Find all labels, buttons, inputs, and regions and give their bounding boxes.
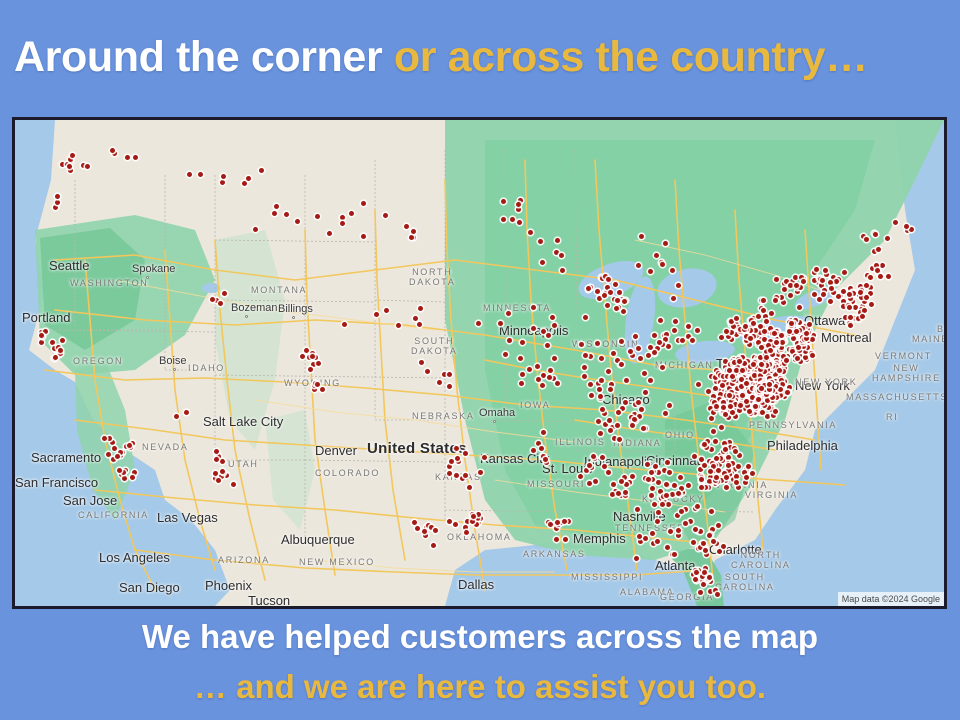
map-customer-dot [541, 373, 546, 378]
map-customer-dot [284, 212, 289, 217]
map-customer-dot [730, 374, 735, 379]
map-customer-dot [873, 232, 878, 237]
map-customer-dot [864, 237, 869, 242]
slide-title: Around the corner or across the country… [0, 26, 960, 88]
map-customer-dot [259, 168, 264, 173]
map-customer-dot [579, 342, 584, 347]
map-customer-dot [716, 523, 721, 528]
map-customer-dot [619, 362, 624, 367]
map-customer-dot [795, 356, 800, 361]
map-container[interactable]: United StatesSeattlePortlandSacramentoSa… [12, 117, 947, 609]
map-customer-dot [676, 283, 681, 288]
map-customer-dot [694, 570, 699, 575]
map-customer-dot [214, 457, 219, 462]
map-basemap [15, 120, 944, 606]
map-customer-dot [717, 549, 722, 554]
title-text-accent: or across the country… [394, 33, 868, 81]
map-customer-dot [774, 277, 779, 282]
map-customer-dot [664, 332, 669, 337]
map-customer-dot [218, 301, 223, 306]
map-customer-dot [315, 214, 320, 219]
map-customer-dot [454, 473, 459, 478]
map-customer-dot [683, 521, 688, 526]
map-customer-dot [559, 253, 564, 258]
map-customer-dot [546, 333, 551, 338]
map-customer-dot [733, 402, 738, 407]
map-customer-dot [766, 343, 771, 348]
map-customer-dot [465, 519, 470, 524]
map-city-tick-icon [146, 276, 149, 279]
map-customer-dot [714, 475, 719, 480]
map-customer-dot [762, 329, 767, 334]
map-customer-dot [374, 312, 379, 317]
map-customer-dot [847, 292, 852, 297]
map-customer-dot [796, 345, 801, 350]
map-customer-dot [817, 297, 822, 302]
map-customer-dot [482, 455, 487, 460]
map-customer-dot [58, 348, 63, 353]
map-customer-dot [699, 485, 704, 490]
map-city-tick-icon [292, 316, 295, 319]
map-customer-dot [810, 337, 815, 342]
map-customer-dot [663, 411, 668, 416]
map-customer-dot [582, 374, 587, 379]
map-customer-dot [246, 176, 251, 181]
map-customer-dot [630, 474, 635, 479]
map-customer-dot [874, 263, 879, 268]
map-customer-dot [520, 372, 525, 377]
map-customer-dot [53, 355, 58, 360]
map-customer-dot [904, 224, 909, 229]
map-customer-dot [841, 299, 846, 304]
map-customer-dot [637, 534, 642, 539]
map-customer-dot [272, 211, 277, 216]
map-customer-dot [531, 305, 536, 310]
map-customer-dot [676, 491, 681, 496]
map-customer-dot [605, 285, 610, 290]
map-customer-dot [587, 481, 592, 486]
map-customer-dot [699, 477, 704, 482]
map-customer-dot [409, 235, 414, 240]
map-customer-dot [864, 295, 869, 300]
map-customer-dot [726, 334, 731, 339]
map-customer-dot [751, 321, 756, 326]
map-customer-dot [885, 236, 890, 241]
map-customer-dot [727, 393, 732, 398]
map-customer-dot [767, 382, 772, 387]
map-city-tick-icon [173, 368, 176, 371]
map-customer-dot [619, 479, 624, 484]
map-customer-dot [765, 398, 770, 403]
map-customer-dot [463, 473, 468, 478]
caption-line-primary: We have helped customers across the map [0, 612, 960, 662]
map-customer-dot [738, 403, 743, 408]
map-customer-dot [693, 577, 698, 582]
map-customer-dot [726, 455, 731, 460]
map-customer-dot [727, 368, 732, 373]
map-customer-dot [753, 328, 758, 333]
map-customer-dot [701, 582, 706, 587]
map-customer-dot [660, 502, 665, 507]
map-customer-dot [560, 268, 565, 273]
map-customer-dot [106, 452, 111, 457]
map-customer-dot [721, 405, 726, 410]
map-canvas[interactable]: United StatesSeattlePortlandSacramentoSa… [15, 120, 944, 606]
map-customer-dot [650, 486, 655, 491]
map-customer-dot [758, 324, 763, 329]
map-customer-dot [361, 234, 366, 239]
map-customer-dot [634, 556, 639, 561]
map-customer-dot [773, 372, 778, 377]
map-customer-dot [676, 528, 681, 533]
map-city-tick-icon [493, 420, 496, 423]
map-customer-dot [598, 431, 603, 436]
map-customer-dot [665, 545, 670, 550]
map-customer-dot [384, 308, 389, 313]
map-customer-dot [555, 238, 560, 243]
map-customer-dot [812, 278, 817, 283]
map-customer-dot [349, 211, 354, 216]
map-customer-dot [555, 520, 560, 525]
map-customer-dot [641, 426, 646, 431]
map-customer-dot [803, 349, 808, 354]
map-customer-dot [383, 213, 388, 218]
map-customer-dot [563, 537, 568, 542]
map-customer-dot [613, 282, 618, 287]
map-customer-dot [715, 592, 720, 597]
map-customer-dot [676, 533, 681, 538]
map-customer-dot [214, 449, 219, 454]
map-customer-dot [750, 471, 755, 476]
map-customer-dot [860, 314, 865, 319]
map-customer-dot [220, 180, 225, 185]
map-customer-dot [701, 541, 706, 546]
map-customer-dot [744, 399, 749, 404]
map-customer-dot [853, 305, 858, 310]
map-city-tick-icon [245, 315, 248, 318]
map-customer-dot [608, 290, 613, 295]
map-customer-dot [295, 219, 300, 224]
map-customer-dot [541, 329, 546, 334]
map-customer-dot [501, 217, 506, 222]
map-customer-dot [707, 575, 712, 580]
map-customer-dot [510, 217, 515, 222]
map-customer-dot [582, 365, 587, 370]
map-customer-dot [586, 286, 591, 291]
map-customer-dot [760, 410, 765, 415]
map-customer-dot [787, 329, 792, 334]
map-customer-dot [411, 229, 416, 234]
map-customer-dot [787, 385, 792, 390]
map-customer-dot [548, 368, 553, 373]
map-customer-dot [531, 326, 536, 331]
map-customer-dot [133, 155, 138, 160]
map-customer-dot [652, 350, 657, 355]
map-customer-dot [880, 263, 885, 268]
map-customer-dot [696, 382, 701, 387]
map-customer-dot [740, 393, 745, 398]
map-customer-dot [660, 365, 665, 370]
map-customer-dot [742, 470, 747, 475]
map-customer-dot [670, 268, 675, 273]
map-customer-dot [642, 371, 647, 376]
map-customer-dot [599, 356, 604, 361]
map-customer-dot [431, 543, 436, 548]
map-customer-dot [678, 475, 683, 480]
map-customer-dot [187, 172, 192, 177]
map-customer-dot [875, 268, 880, 273]
map-customer-dot [545, 343, 550, 348]
map-customer-dot [744, 381, 749, 386]
map-customer-dot [39, 333, 44, 338]
map-customer-dot [614, 306, 619, 311]
map-customer-dot [667, 470, 672, 475]
map-customer-dot [310, 354, 315, 359]
map-customer-dot [463, 451, 468, 456]
map-customer-dot [597, 296, 602, 301]
map-customer-dot [773, 298, 778, 303]
map-customer-dot [174, 414, 179, 419]
map-customer-dot [803, 355, 808, 360]
map-customer-dot [777, 368, 782, 373]
map-customer-dot [606, 277, 611, 282]
map-customer-dot [719, 335, 724, 340]
map-customer-dot [536, 441, 541, 446]
map-customer-dot [507, 338, 512, 343]
map-customer-dot [714, 456, 719, 461]
map-customer-dot [316, 361, 321, 366]
caption-line-accent: … and we are here to assist you too. [0, 662, 960, 712]
map-customer-dot [707, 533, 712, 538]
map-customer-dot [748, 328, 753, 333]
map-customer-dot [643, 390, 648, 395]
map-customer-dot [843, 315, 848, 320]
map-customer-dot [528, 230, 533, 235]
map-customer-dot [527, 367, 532, 372]
map-customer-dot [699, 457, 704, 462]
map-customer-dot [506, 311, 511, 316]
map-customer-dot [772, 331, 777, 336]
map-customer-dot [112, 446, 117, 451]
map-customer-dot [841, 304, 846, 309]
map-customer-dot [779, 295, 784, 300]
map-customer-dot [702, 442, 707, 447]
map-customer-dot [648, 345, 653, 350]
map-customer-dot [727, 440, 732, 445]
map-customer-dot [773, 409, 778, 414]
map-customer-dot [671, 296, 676, 301]
map-customer-dot [220, 459, 225, 464]
map-customer-dot [848, 315, 853, 320]
map-customer-dot [730, 410, 735, 415]
map-customer-dot [668, 529, 673, 534]
map-customer-dot [785, 390, 790, 395]
map-customer-dot [616, 491, 621, 496]
map-customer-dot [433, 528, 438, 533]
map-attribution: Map data ©2024 Google [838, 592, 944, 606]
map-customer-dot [555, 381, 560, 386]
map-customer-dot [747, 409, 752, 414]
map-customer-dot [711, 394, 716, 399]
map-customer-dot [695, 504, 700, 509]
map-customer-dot [55, 194, 60, 199]
map-customer-dot [692, 454, 697, 459]
map-customer-dot [779, 333, 784, 338]
map-customer-dot [39, 340, 44, 345]
map-customer-dot [606, 369, 611, 374]
map-customer-dot [649, 470, 654, 475]
map-customer-dot [768, 348, 773, 353]
map-customer-dot [719, 425, 724, 430]
map-customer-dot [184, 410, 189, 415]
map-customer-dot [503, 352, 508, 357]
map-customer-dot [340, 221, 345, 226]
map-customer-dot [552, 356, 557, 361]
map-customer-dot [632, 417, 637, 422]
map-customer-dot [726, 463, 731, 468]
map-customer-dot [789, 321, 794, 326]
map-customer-dot [672, 483, 677, 488]
map-customer-dot [628, 349, 633, 354]
map-customer-dot [714, 404, 719, 409]
map-customer-dot [764, 319, 769, 324]
map-customer-dot [320, 387, 325, 392]
map-customer-dot [85, 164, 90, 169]
map-customer-dot [638, 356, 643, 361]
map-customer-dot [736, 464, 741, 469]
map-customer-dot [198, 172, 203, 177]
map-customer-dot [595, 341, 600, 346]
map-customer-dot [60, 162, 65, 167]
map-customer-dot [520, 340, 525, 345]
map-customer-dot [231, 482, 236, 487]
map-customer-dot [653, 464, 658, 469]
map-customer-dot [823, 268, 828, 273]
map-customer-dot [578, 474, 583, 479]
map-customer-dot [679, 509, 684, 514]
map-customer-dot [648, 378, 653, 383]
map-customer-dot [762, 337, 767, 342]
map-customer-dot [623, 400, 628, 405]
map-customer-dot [110, 148, 115, 153]
map-customer-dot [662, 468, 667, 473]
map-customer-dot [706, 389, 711, 394]
map-customer-dot [768, 326, 773, 331]
map-customer-dot [476, 321, 481, 326]
map-customer-dot [315, 382, 320, 387]
map-customer-dot [812, 292, 817, 297]
map-customer-dot [703, 548, 708, 553]
map-customer-dot [630, 423, 635, 428]
map-customer-dot [60, 338, 65, 343]
map-customer-dot [654, 253, 659, 258]
map-customer-dot [43, 329, 48, 334]
map-customer-dot [454, 446, 459, 451]
map-customer-dot [767, 387, 772, 392]
map-customer-dot [868, 291, 873, 296]
map-customer-dot [810, 353, 815, 358]
map-customer-dot [657, 340, 662, 345]
map-customer-dot [868, 275, 873, 280]
map-customer-dot [447, 519, 452, 524]
map-customer-dot [543, 457, 548, 462]
map-customer-dot [536, 377, 541, 382]
map-customer-dot [274, 204, 279, 209]
map-customer-dot [617, 437, 622, 442]
map-customer-dot [759, 345, 764, 350]
map-customer-dot [759, 362, 764, 367]
map-customer-dot [619, 339, 624, 344]
map-customer-dot [693, 527, 698, 532]
map-customer-dot [878, 274, 883, 279]
map-customer-dot [541, 430, 546, 435]
map-customer-dot [611, 482, 616, 487]
map-customer-dot [447, 372, 452, 377]
map-customer-dot [656, 510, 661, 515]
title-text-primary: Around the corner [14, 33, 394, 81]
map-customer-dot [804, 331, 809, 336]
map-customer-dot [680, 338, 685, 343]
map-customer-dot [672, 552, 677, 557]
map-customer-dot [740, 368, 745, 373]
map-customer-dot [780, 382, 785, 387]
map-customer-dot [742, 361, 747, 366]
map-customer-dot [646, 353, 651, 358]
map-customer-dot [801, 344, 806, 349]
map-customer-dot [788, 293, 793, 298]
caption-block: We have helped customers across the map … [0, 612, 960, 712]
map-customer-dot [702, 570, 707, 575]
map-customer-dot [734, 474, 739, 479]
map-customer-dot [50, 340, 55, 345]
map-customer-dot [761, 308, 766, 313]
map-customer-dot [422, 529, 427, 534]
map-customer-dot [588, 382, 593, 387]
map-customer-dot [774, 340, 779, 345]
map-customer-dot [547, 375, 552, 380]
map-customer-dot [724, 329, 729, 334]
map-customer-dot [242, 181, 247, 186]
map-customer-dot [711, 539, 716, 544]
map-customer-dot [624, 482, 629, 487]
map-customer-dot [804, 336, 809, 341]
map-customer-dot [548, 522, 553, 527]
map-customer-dot [636, 346, 641, 351]
map-customer-dot [737, 359, 742, 364]
